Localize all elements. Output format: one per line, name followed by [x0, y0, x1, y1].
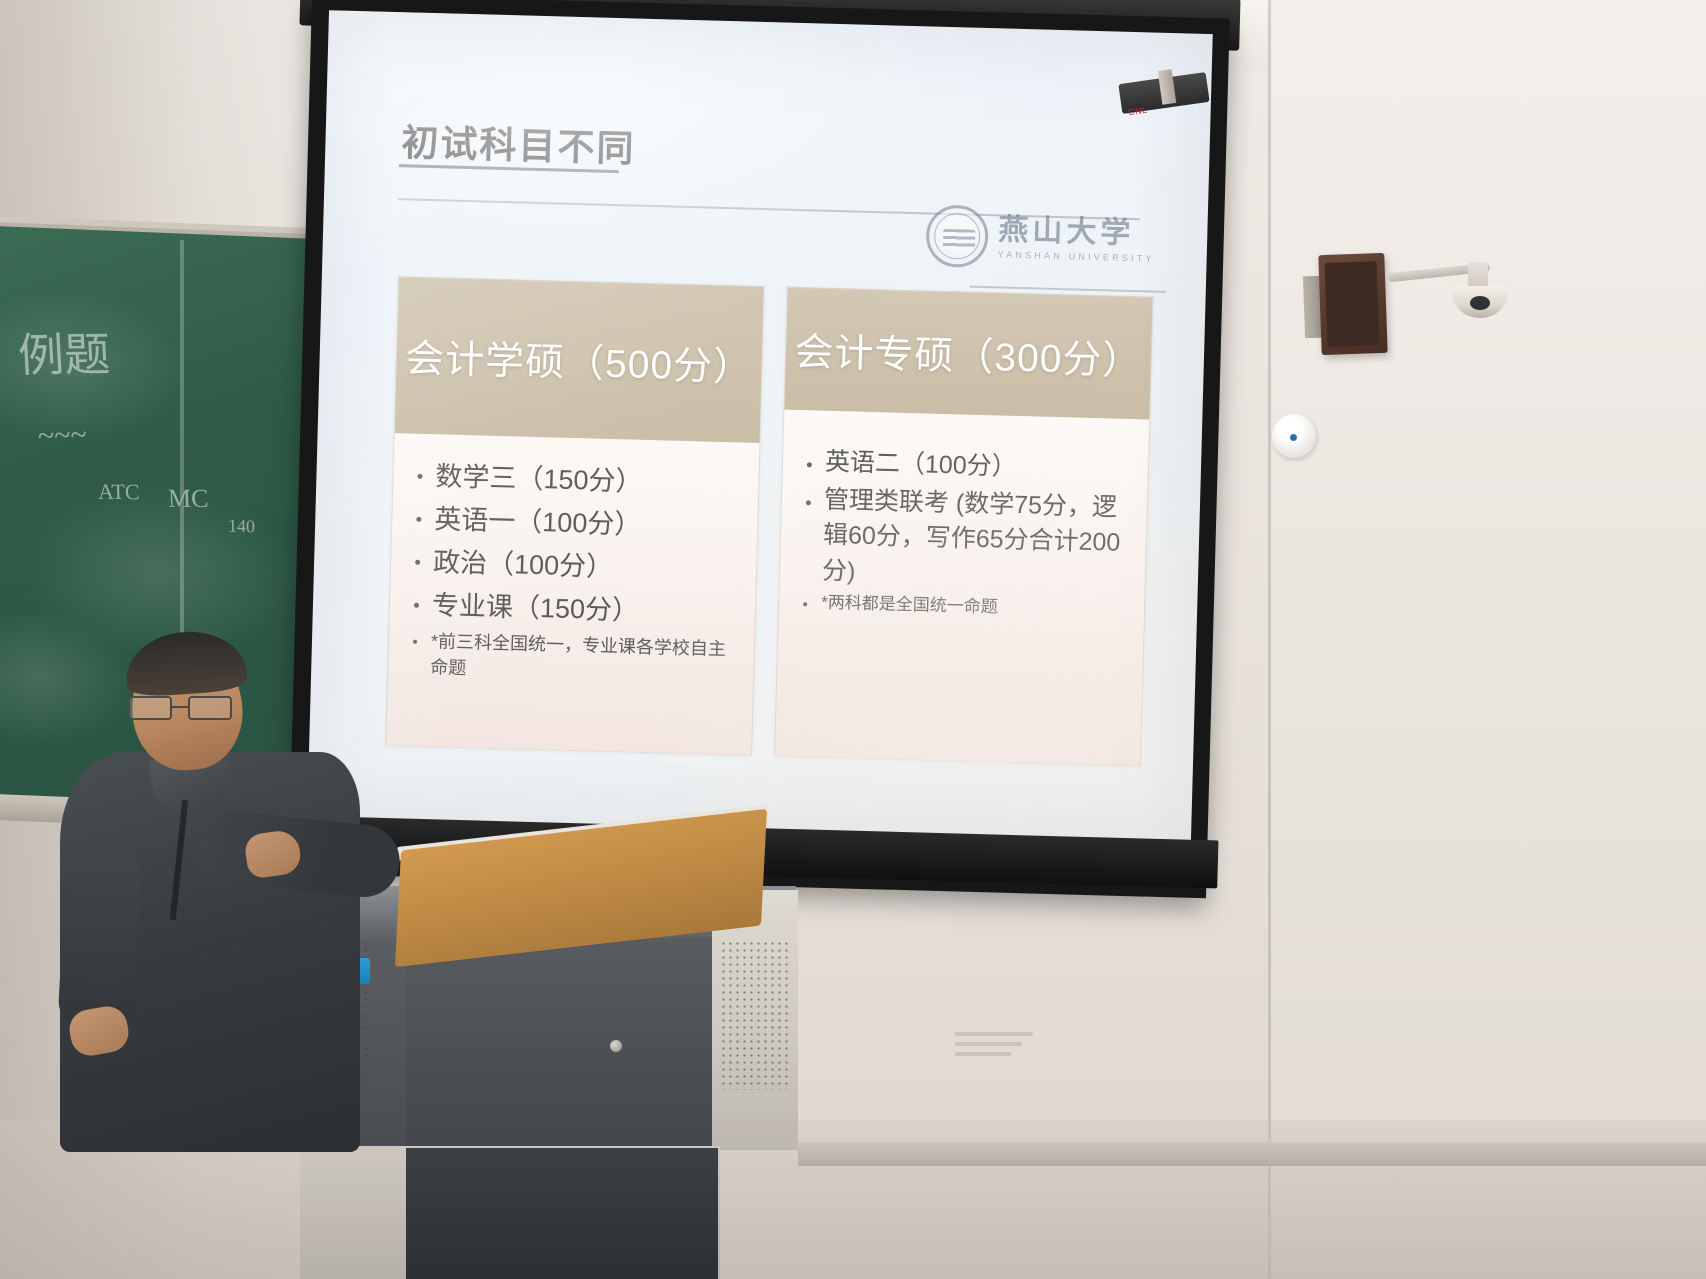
presenter — [60, 640, 360, 1200]
baseboard — [798, 1142, 1706, 1166]
wall-seam — [1268, 0, 1271, 1279]
university-name-en: YANSHAN UNIVERSITY — [998, 250, 1155, 263]
chalk-smudge — [0, 284, 188, 444]
column-body: 数学三（150分） 英语一（100分） 政治（100分） 专业课（150分） *… — [386, 433, 759, 755]
projection-screen: 初试科目不同 燕山大学 YANSHAN UNIVERSITY 会计学硕（500分… — [307, 10, 1212, 840]
bullet-list: 英语二（100分） 管理类联考 (数学75分，逻辑60分，写作65分合计200分… — [799, 444, 1136, 623]
column-academic-master: 会计学硕（500分） 数学三（150分） 英语一（100分） 政治（100分） … — [385, 276, 765, 756]
list-item: 专业课（150分） — [409, 585, 743, 635]
list-item: 管理类联考 (数学75分，逻辑60分，写作65分合计200分) — [800, 482, 1136, 597]
university-seal-icon — [925, 204, 989, 268]
podium-lower-panel — [406, 1148, 718, 1279]
glasses-icon — [126, 696, 248, 720]
podium-speaker-grill — [720, 940, 790, 1090]
right-wall-panel — [1270, 0, 1706, 1279]
list-item: 政治（100分） — [411, 542, 745, 592]
slide: 初试科目不同 燕山大学 YANSHAN UNIVERSITY 会计学硕（500分… — [307, 10, 1212, 840]
column-professional-master: 会计专硕（300分） 英语二（100分） 管理类联考 (数学75分，逻辑60分，… — [774, 287, 1154, 767]
bullet-list: 数学三（150分） 英语一（100分） 政治（100分） 专业课（150分） *… — [408, 456, 747, 689]
comparison-columns: 会计学硕（500分） 数学三（150分） 英语一（100分） 政治（100分） … — [385, 276, 1153, 766]
list-item: 英语二（100分） — [803, 444, 1137, 488]
wall-speaker-face — [1325, 261, 1380, 347]
presenter-left-arm — [57, 844, 143, 1034]
camera-lens — [1470, 296, 1490, 310]
slide-title: 初试科目不同 — [401, 112, 636, 172]
classroom-scene: 例题 MC ATC 140 ~~~ 初试科目不同 燕山大学 YANSHAN UN… — [0, 0, 1706, 1279]
list-item: 英语一（100分） — [412, 499, 746, 549]
column-body: 英语二（100分） 管理类联考 (数学75分，逻辑60分，写作65分合计200分… — [775, 410, 1149, 766]
column-note: *前三科全国统一，专业课各学校自主命题 — [408, 628, 742, 689]
university-logo: 燕山大学 YANSHAN UNIVERSITY — [925, 204, 1156, 272]
column-heading: 会计专硕（300分） — [784, 288, 1152, 420]
wall-vent — [955, 1032, 1033, 1066]
podium-front-panel — [406, 938, 726, 1148]
detector-led — [1290, 434, 1297, 441]
university-name-cn: 燕山大学 — [998, 215, 1156, 249]
university-logo-text: 燕山大学 YANSHAN UNIVERSITY — [998, 215, 1156, 263]
column-heading: 会计学硕（500分） — [395, 277, 764, 443]
podium-screw — [610, 1040, 622, 1052]
list-item: 数学三（150分） — [413, 456, 747, 506]
